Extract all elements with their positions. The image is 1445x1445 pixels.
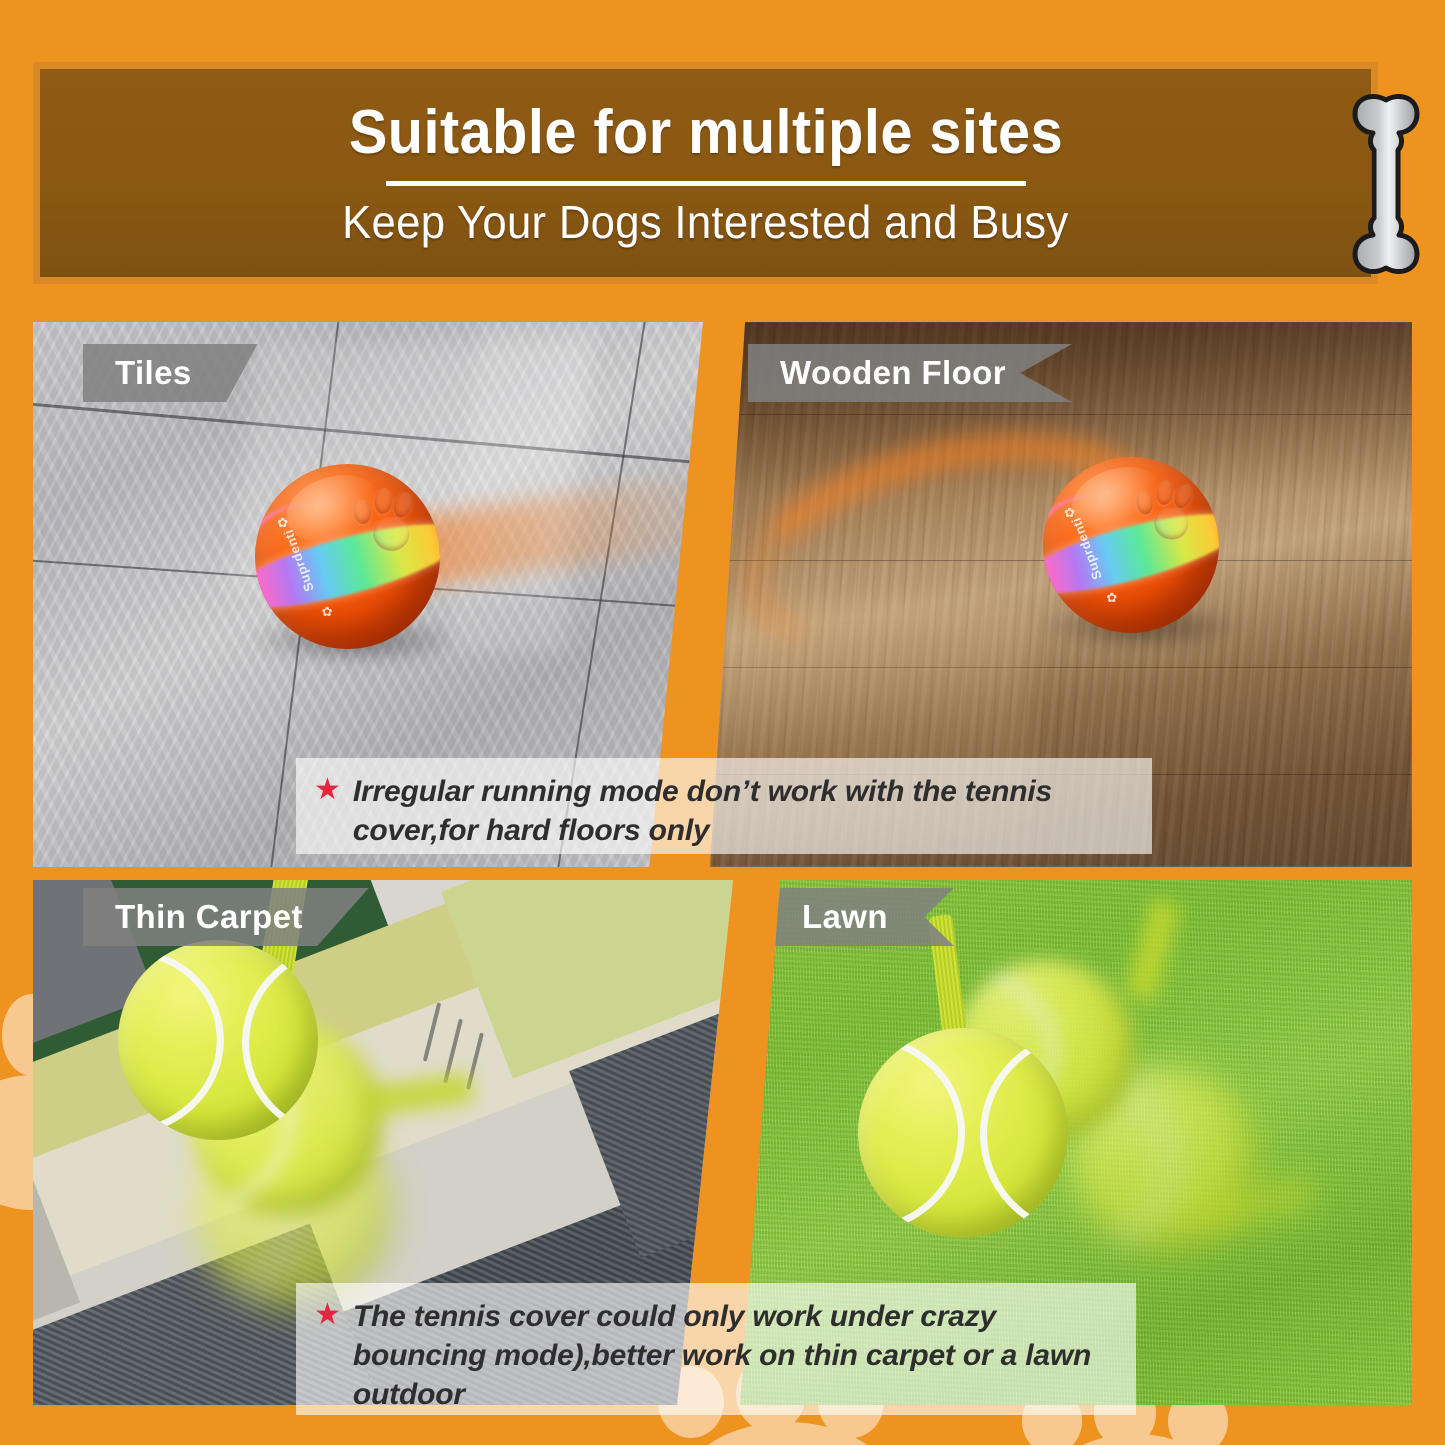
header-divider [386,181,1026,186]
header-band: Suitable for multiple sites Keep Your Do… [40,69,1371,277]
star-icon: ★ [314,772,341,807]
tennis-ball-lawn [858,1028,1068,1238]
smart-ball-tiles: Suprdenti ✿ ✿ [255,464,440,649]
header-banner: Suitable for multiple sites Keep Your Do… [33,62,1378,284]
smart-ball-wooden: Suprdenti ✿ ✿ [1043,457,1219,633]
star-icon: ★ [314,1297,341,1332]
site-label-text-thin-carpet: Thin Carpet [115,898,303,936]
page-title: Suitable for multiple sites [348,102,1062,164]
infographic-canvas: Suitable for multiple sites Keep Your Do… [0,0,1445,1445]
caption-tennis-cover-note: ★ The tennis cover could only work under… [296,1283,1136,1415]
bone-icon [1343,84,1429,284]
tennis-ball-carpet [118,940,318,1140]
caption-hard-floor-note: ★ Irregular running mode don’t work with… [296,758,1152,854]
caption-text-hard-floor: Irregular running mode don’t work with t… [353,772,1132,850]
page-subtitle: Keep Your Dogs Interested and Busy [342,199,1068,245]
caption-text-tennis-cover: The tennis cover could only work under c… [353,1297,1116,1414]
site-label-text-lawn: Lawn [802,898,888,936]
site-label-text-tiles: Tiles [115,354,192,392]
site-label-text-wooden-floor: Wooden Floor [780,354,1006,392]
